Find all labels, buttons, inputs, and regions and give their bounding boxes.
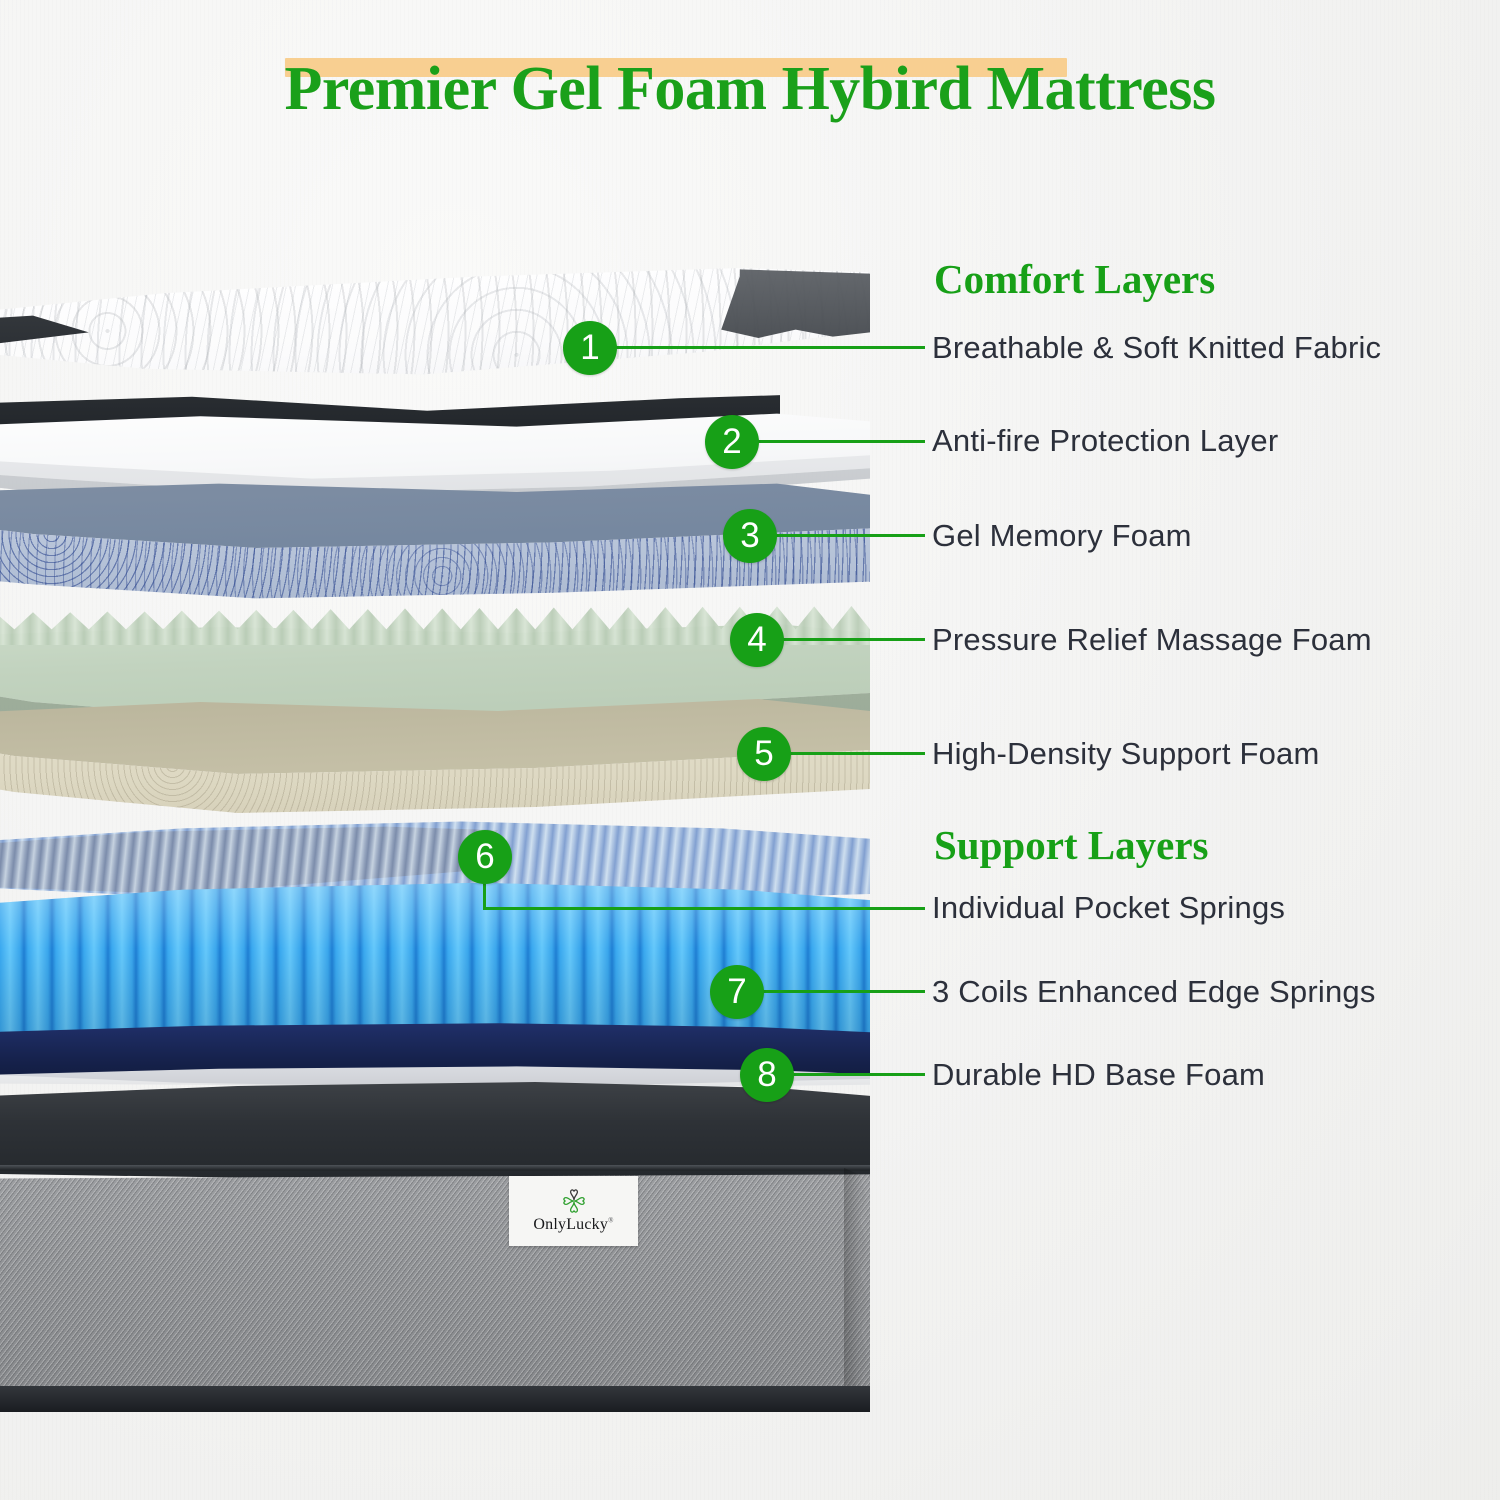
mattress-exploded-illustration: OnlyLucky®	[0, 0, 940, 1500]
layer-pocket-springs	[0, 818, 870, 1088]
callout-badge-3[interactable]: 3	[723, 509, 777, 563]
callout-badge-2[interactable]: 2	[705, 415, 759, 469]
callout-label-4: Pressure Relief Massage Foam	[932, 622, 1372, 658]
callout-connector-4	[782, 638, 925, 641]
infographic-canvas: Premier Gel Foam Hybird Mattress	[0, 0, 1500, 1500]
registered-mark: ®	[608, 1217, 614, 1225]
callout-label-8: Durable HD Base Foam	[932, 1057, 1265, 1093]
brand-name-text: OnlyLucky	[533, 1216, 608, 1233]
callout-label-3: Gel Memory Foam	[932, 518, 1192, 554]
mattress-rail-seam	[0, 1165, 870, 1171]
callout-label-7: 3 Coils Enhanced Edge Springs	[932, 974, 1376, 1010]
callout-connector-7	[762, 990, 925, 993]
four-leaf-clover-icon	[558, 1188, 590, 1214]
brand-name: OnlyLucky®	[533, 1216, 613, 1234]
callout-label-1: Breathable & Soft Knitted Fabric	[932, 330, 1381, 366]
callout-connector-3	[775, 534, 925, 537]
callout-connector-8	[792, 1073, 925, 1076]
mattress-side-panel	[0, 1174, 870, 1392]
callout-connector-6-vertical	[483, 882, 486, 910]
callout-badge-8[interactable]: 8	[740, 1048, 794, 1102]
callout-connector-6	[483, 907, 925, 910]
callout-label-6: Individual Pocket Springs	[932, 890, 1285, 926]
callout-connector-1	[615, 346, 925, 349]
callout-badge-1[interactable]: 1	[563, 321, 617, 375]
callout-connector-2	[757, 440, 925, 443]
callout-badge-5[interactable]: 5	[737, 727, 791, 781]
callout-label-5: High-Density Support Foam	[932, 736, 1320, 772]
brand-label-patch: OnlyLucky®	[509, 1176, 638, 1246]
callout-badge-4[interactable]: 4	[730, 613, 784, 667]
callout-badge-7[interactable]: 7	[710, 965, 764, 1019]
callout-label-2: Anti-fire Protection Layer	[932, 423, 1278, 459]
callout-badge-6[interactable]: 6	[458, 830, 512, 884]
mattress-bottom-rail	[0, 1386, 870, 1412]
callout-connector-5	[789, 752, 925, 755]
mattress-body	[0, 1082, 870, 1412]
section-heading-support-layers: Support Layers	[934, 821, 1209, 869]
section-heading-comfort-layers: Comfort Layers	[934, 255, 1215, 303]
